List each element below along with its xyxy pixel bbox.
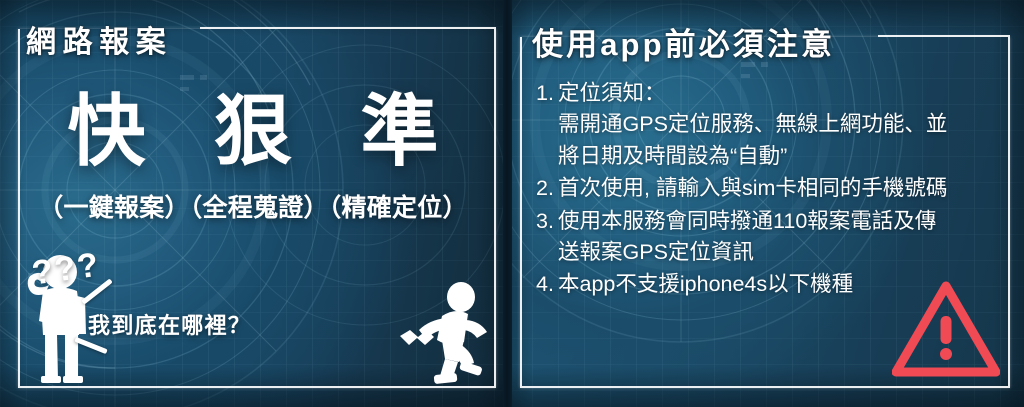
- left-headline: 快 狠 準: [0, 92, 506, 170]
- notice-line: 定位須知：: [558, 78, 998, 109]
- notice-body-2: 首次使用, 請輸入與sim卡相同的手機號碼: [558, 173, 998, 204]
- notice-item-2: 2. 首次使用, 請輸入與sim卡相同的手機號碼: [536, 173, 998, 204]
- panel-divider: [503, 0, 512, 407]
- notice-body-1: 定位須知： 需開通GPS定位服務、無線上網功能、並 將日期及時間設為“自動”: [558, 78, 998, 172]
- warning-triangle-icon: [892, 280, 1000, 383]
- notice-body-3: 使用本服務會同時撥通110報案電話及傳 送報案GPS定位資訊: [558, 206, 998, 269]
- notice-number-3: 3.: [536, 206, 558, 237]
- left-caption: 我到底在哪裡？: [88, 308, 251, 340]
- left-tagline: （一鍵報案）（全程蒐證）（精確定位）: [0, 188, 506, 224]
- notice-item-1: 1. 定位須知： 需開通GPS定位服務、無線上網功能、並 將日期及時間設為“自動…: [536, 78, 998, 172]
- notice-item-3: 3. 使用本服務會同時撥通110報案電話及傳 送報案GPS定位資訊: [536, 206, 998, 269]
- notice-number-1: 1.: [536, 78, 558, 109]
- notice-line: 將日期及時間設為“自動”: [558, 141, 998, 172]
- right-panel-title: 使用app前必須注意: [532, 19, 835, 64]
- notice-line: 首次使用, 請輸入與sim卡相同的手機號碼: [558, 173, 998, 204]
- right-panel: 使用app前必須注意 1. 定位須知： 需開通GPS定位服務、無線上網功能、並 …: [506, 0, 1024, 407]
- running-person-icon: [398, 282, 494, 391]
- left-panel-title: 網路報案: [26, 17, 172, 61]
- notice-line: 需開通GPS定位服務、無線上網功能、並: [558, 109, 998, 140]
- notice-line: 送報案GPS定位資訊: [558, 237, 998, 268]
- notice-list: 1. 定位須知： 需開通GPS定位服務、無線上網功能、並 將日期及時間設為“自動…: [536, 78, 998, 302]
- notice-number-4: 4.: [536, 269, 558, 300]
- poster-root: 網路報案 快 狠 準 （一鍵報案）（全程蒐證）（精確定位） ???: [0, 0, 1024, 407]
- left-panel: 網路報案 快 狠 準 （一鍵報案）（全程蒐證）（精確定位） ???: [0, 0, 506, 407]
- notice-number-2: 2.: [536, 173, 558, 204]
- notice-line: 使用本服務會同時撥通110報案電話及傳: [558, 206, 998, 237]
